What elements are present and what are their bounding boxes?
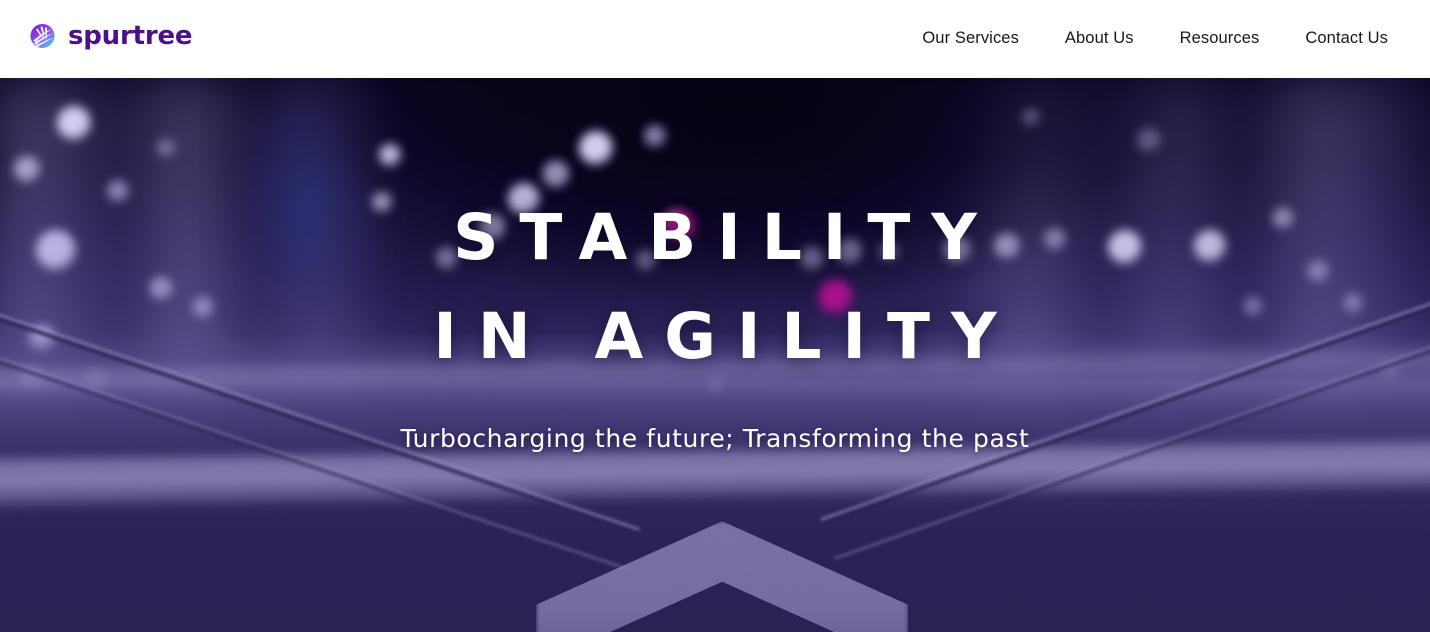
brand-name: spurtree xyxy=(68,23,192,49)
site-header: spurtree Our Services About Us Resources… xyxy=(0,0,1430,78)
nav-item-our-services[interactable]: Our Services xyxy=(922,24,1019,53)
nav-item-resources[interactable]: Resources xyxy=(1180,24,1260,53)
page-root: spurtree Our Services About Us Resources… xyxy=(0,0,1430,632)
hero-purple-tint xyxy=(0,78,1430,632)
hero-banner: STABILITY IN AGILITY Turbocharging the f… xyxy=(0,78,1430,632)
brand-logo-link[interactable]: spurtree xyxy=(27,19,192,53)
primary-navigation: Our Services About Us Resources Contact … xyxy=(922,24,1388,53)
spurtree-sphere-icon xyxy=(27,19,59,53)
nav-item-contact-us[interactable]: Contact Us xyxy=(1305,24,1388,53)
nav-item-about-us[interactable]: About Us xyxy=(1065,24,1134,53)
